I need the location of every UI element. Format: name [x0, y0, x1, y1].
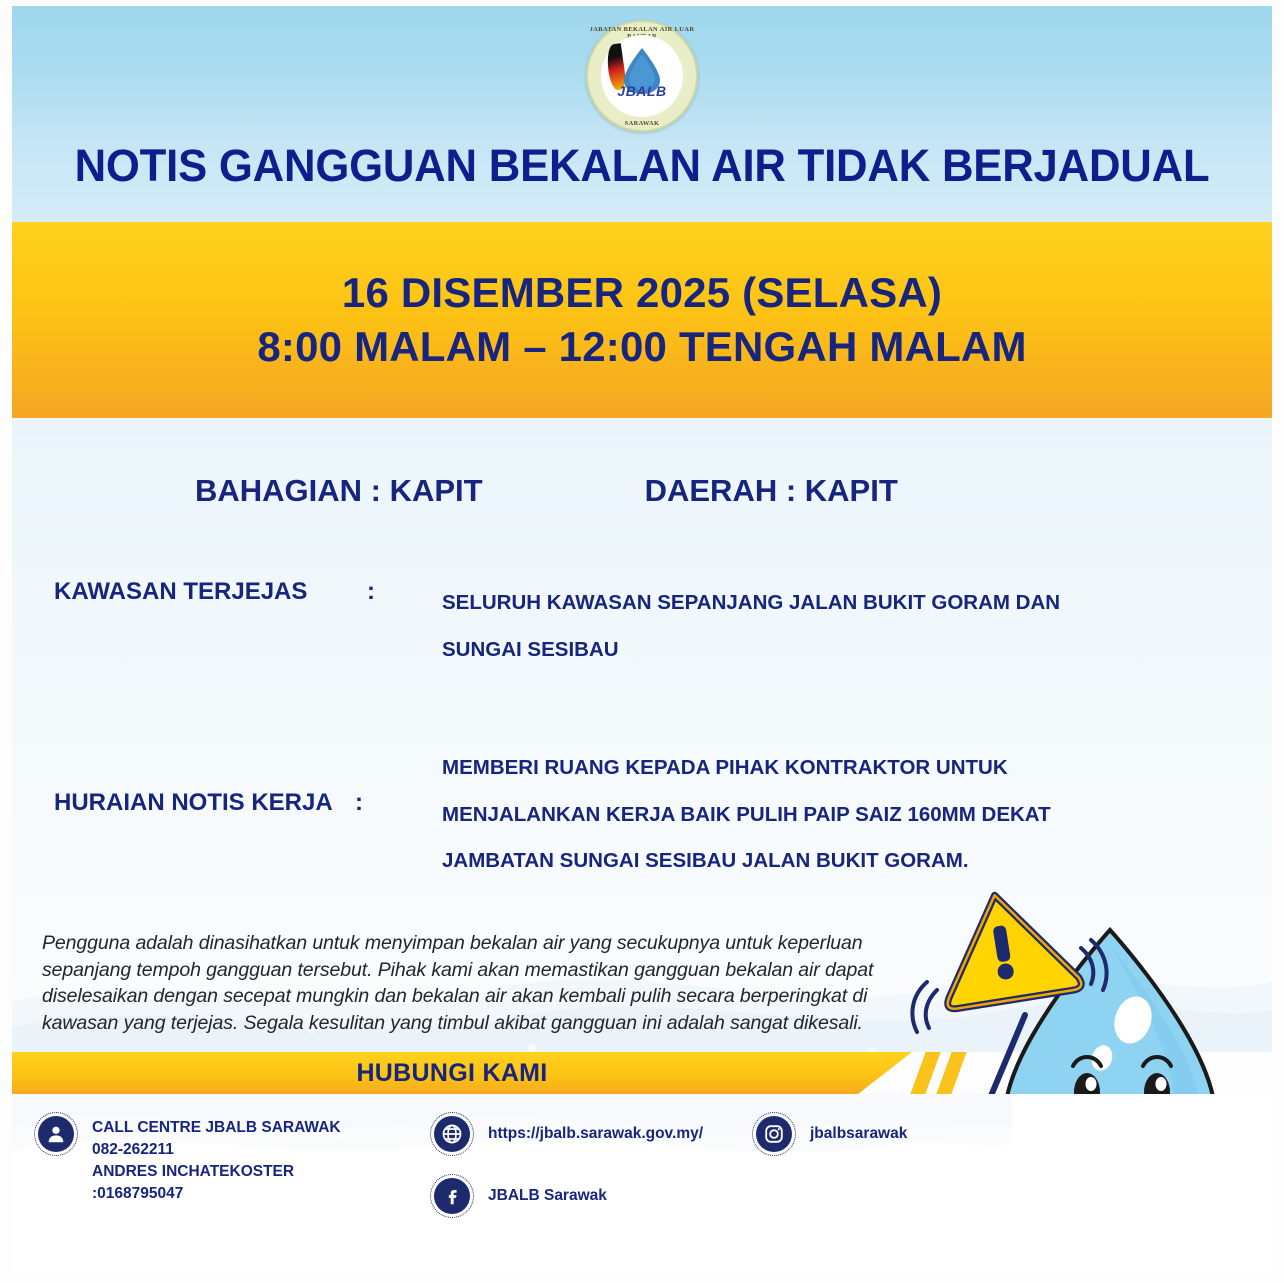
website-url: https://jbalb.sarawak.gov.my/	[488, 1112, 703, 1145]
advisory-paragraph: Pengguna adalah dinasihatkan untuk menyi…	[42, 930, 922, 1036]
affected-area-line: SELURUH KAWASAN SEPANJANG JALAN BUKIT GO…	[442, 580, 1112, 627]
affected-area-value: SELURUH KAWASAN SEPANJANG JALAN BUKIT GO…	[442, 580, 1112, 673]
work-description-line: MENJALANKAN KERJA BAIK PULIH PAIP SAIZ 1…	[442, 792, 1112, 839]
work-description-label: HURAIAN NOTIS KERJA	[54, 789, 333, 817]
page-title: NOTIS GANGGUAN BEKALAN AIR TIDAK BERJADU…	[31, 140, 1253, 192]
affected-area-line: SUNGAI SESIBAU	[442, 627, 1112, 674]
division-label: BAHAGIAN : KAPIT	[195, 473, 483, 509]
contact-footer: CALL CENTRE JBALB SARAWAK 082-262211 AND…	[12, 1094, 1272, 1271]
date-time-banner: 16 DISEMBER 2025 (SELASA) 8:00 MALAM – 1…	[12, 222, 1272, 418]
globe-icon	[430, 1112, 474, 1156]
jbalb-logo: JABATAN BEKALAN AIR LUAR BANDAR SARAWAK …	[586, 20, 698, 132]
notice-poster: JABATAN BEKALAN AIR LUAR BANDAR SARAWAK …	[0, 0, 1284, 1283]
work-description-line: JAMBATAN SUNGAI SESIBAU JALAN BUKIT GORA…	[442, 838, 1112, 885]
contact-person-phone: :0168795047	[92, 1183, 341, 1205]
person-icon	[34, 1112, 78, 1156]
contact-person-name: ANDRES INCHATEKOSTER	[92, 1161, 341, 1183]
logo-wordmark: JBALB	[586, 83, 698, 99]
location-row: BAHAGIAN : KAPIT DAERAH : KAPIT	[12, 473, 1272, 509]
banner-stripe-decoration	[936, 1052, 966, 1094]
notice-body: BAHAGIAN : KAPIT DAERAH : KAPIT KAWASAN …	[12, 418, 1272, 1052]
contact-facebook[interactable]: JBALB Sarawak	[430, 1174, 607, 1218]
contact-website[interactable]: https://jbalb.sarawak.gov.my/	[430, 1112, 703, 1156]
facebook-icon	[430, 1174, 474, 1218]
call-centre-name: CALL CENTRE JBALB SARAWAK	[92, 1117, 341, 1139]
logo-arc-bottom-text: SARAWAK	[586, 120, 698, 127]
contact-banner-title: HUBUNGI KAMI	[12, 1052, 892, 1094]
call-centre-phone: 082-262211	[92, 1139, 341, 1161]
header-banner: JABATAN BEKALAN AIR LUAR BANDAR SARAWAK …	[12, 6, 1272, 222]
notice-time: 8:00 MALAM – 12:00 TENGAH MALAM	[257, 320, 1026, 374]
call-centre-text: CALL CENTRE JBALB SARAWAK 082-262211 AND…	[92, 1112, 341, 1205]
notice-date: 16 DISEMBER 2025 (SELASA)	[342, 266, 942, 320]
affected-area-colon: :	[367, 578, 375, 606]
work-description-value: MEMBERI RUANG KEPADA PIHAK KONTRAKTOR UN…	[442, 745, 1112, 885]
facebook-page: JBALB Sarawak	[488, 1174, 607, 1207]
instagram-handle: jbalbsarawak	[810, 1112, 907, 1145]
contact-instagram[interactable]: jbalbsarawak	[752, 1112, 907, 1156]
work-description-line: MEMBERI RUANG KEPADA PIHAK KONTRAKTOR UN…	[442, 745, 1112, 792]
contact-call-centre[interactable]: CALL CENTRE JBALB SARAWAK 082-262211 AND…	[34, 1112, 341, 1205]
banner-stripe-decoration	[910, 1052, 940, 1094]
work-description-colon: :	[355, 789, 363, 817]
district-label: DAERAH : KAPIT	[645, 473, 898, 509]
instagram-icon	[752, 1112, 796, 1156]
affected-area-label: KAWASAN TERJEJAS	[54, 578, 307, 606]
